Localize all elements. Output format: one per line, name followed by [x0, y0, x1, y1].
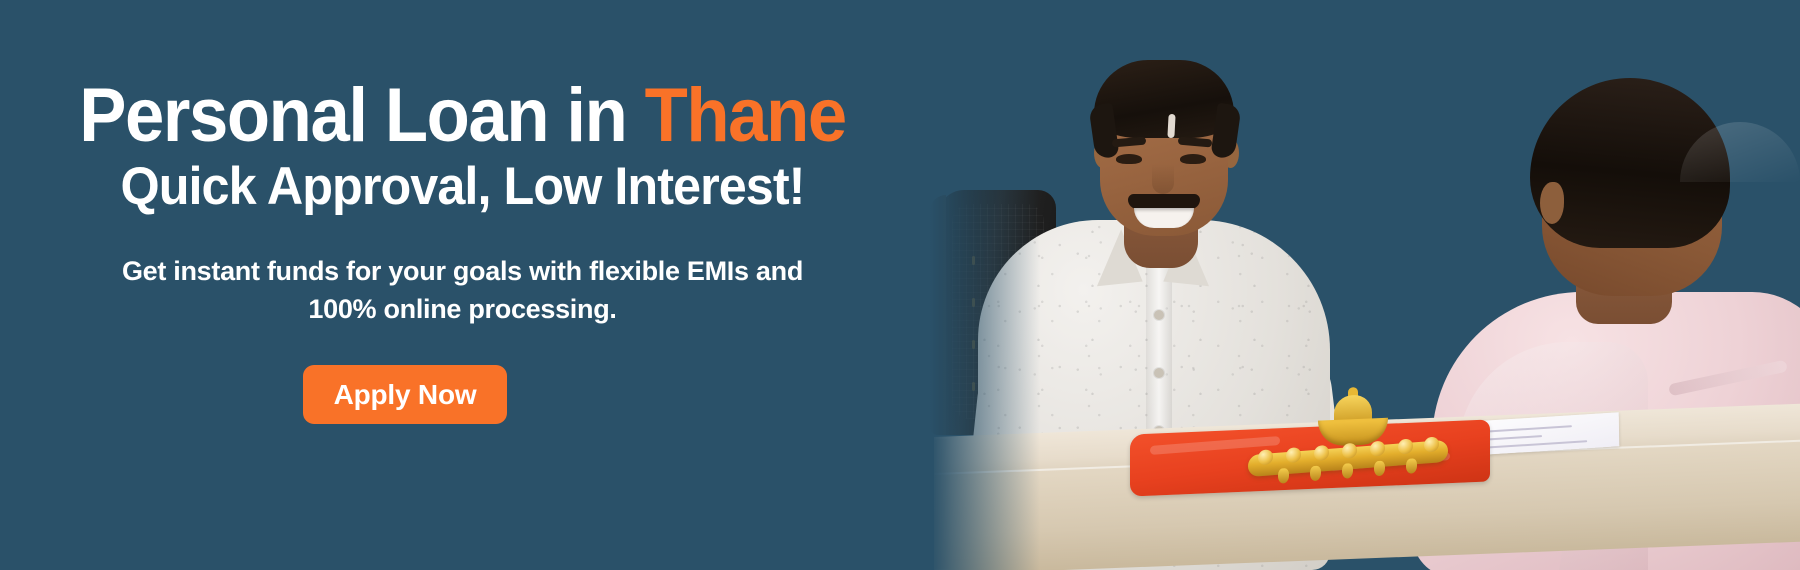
customer-hair: [1530, 78, 1730, 248]
officer-eye-right: [1180, 154, 1206, 164]
headline-primary-plain: Personal Loan in: [79, 73, 644, 158]
subcopy-line-1: Get instant funds for your goals with fl…: [122, 256, 803, 286]
cta-container: Apply Now: [0, 365, 810, 424]
officer-shirt-button: [1154, 310, 1164, 320]
officer-nose: [1152, 164, 1174, 194]
subcopy-block: Get instant funds for your goals with fl…: [110, 253, 815, 329]
promo-banner: Personal Loan in Thane Quick Approval, L…: [0, 0, 1800, 570]
necklace-drop: [1310, 465, 1321, 481]
wooden-desk: [934, 415, 1800, 570]
officer-forehead-tilak: [1167, 114, 1175, 138]
chair-side-edge: [930, 195, 946, 435]
officer-shirt-button: [1154, 368, 1164, 378]
necklace-drop: [1406, 458, 1417, 474]
headline-primary-accent: Thane: [645, 73, 846, 158]
headline-primary: Personal Loan in Thane: [32, 78, 892, 154]
necklace-drop: [1278, 468, 1289, 484]
customer-hair-highlight: [1680, 122, 1800, 182]
hero-photo: [930, 0, 1800, 570]
subcopy-line-2: 100% online processing.: [308, 294, 616, 324]
customer-ear: [1540, 182, 1564, 224]
officer-eye-left: [1116, 154, 1142, 164]
necklace-drop: [1342, 463, 1353, 479]
copy-column: Personal Loan in Thane Quick Approval, L…: [0, 0, 925, 570]
apply-now-button[interactable]: Apply Now: [303, 365, 507, 424]
officer-moustache: [1128, 194, 1200, 209]
necklace-drop: [1374, 461, 1385, 477]
headline-secondary: Quick Approval, Low Interest!: [23, 160, 902, 213]
desk-corner-shadow: [934, 439, 952, 570]
